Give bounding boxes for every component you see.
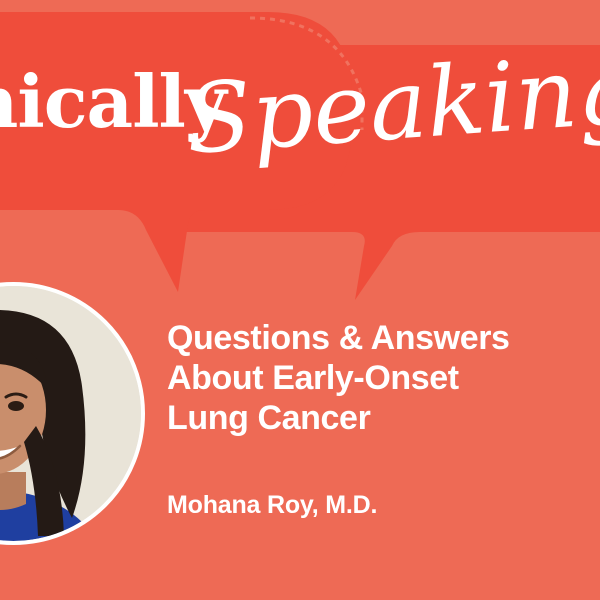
episode-text-block: Questions & Answers About Early-Onset Lu… — [167, 318, 600, 520]
speech-bubble-left — [0, 12, 352, 292]
episode-title-line-1: Questions & Answers — [167, 318, 600, 358]
episode-title-line-2: About Early-Onset — [167, 358, 600, 398]
episode-byline: Mohana Roy, M.D. — [167, 490, 600, 520]
podcast-episode-card: nically Speaking — [0, 0, 600, 600]
episode-title-line-3: Lung Cancer — [167, 398, 600, 438]
